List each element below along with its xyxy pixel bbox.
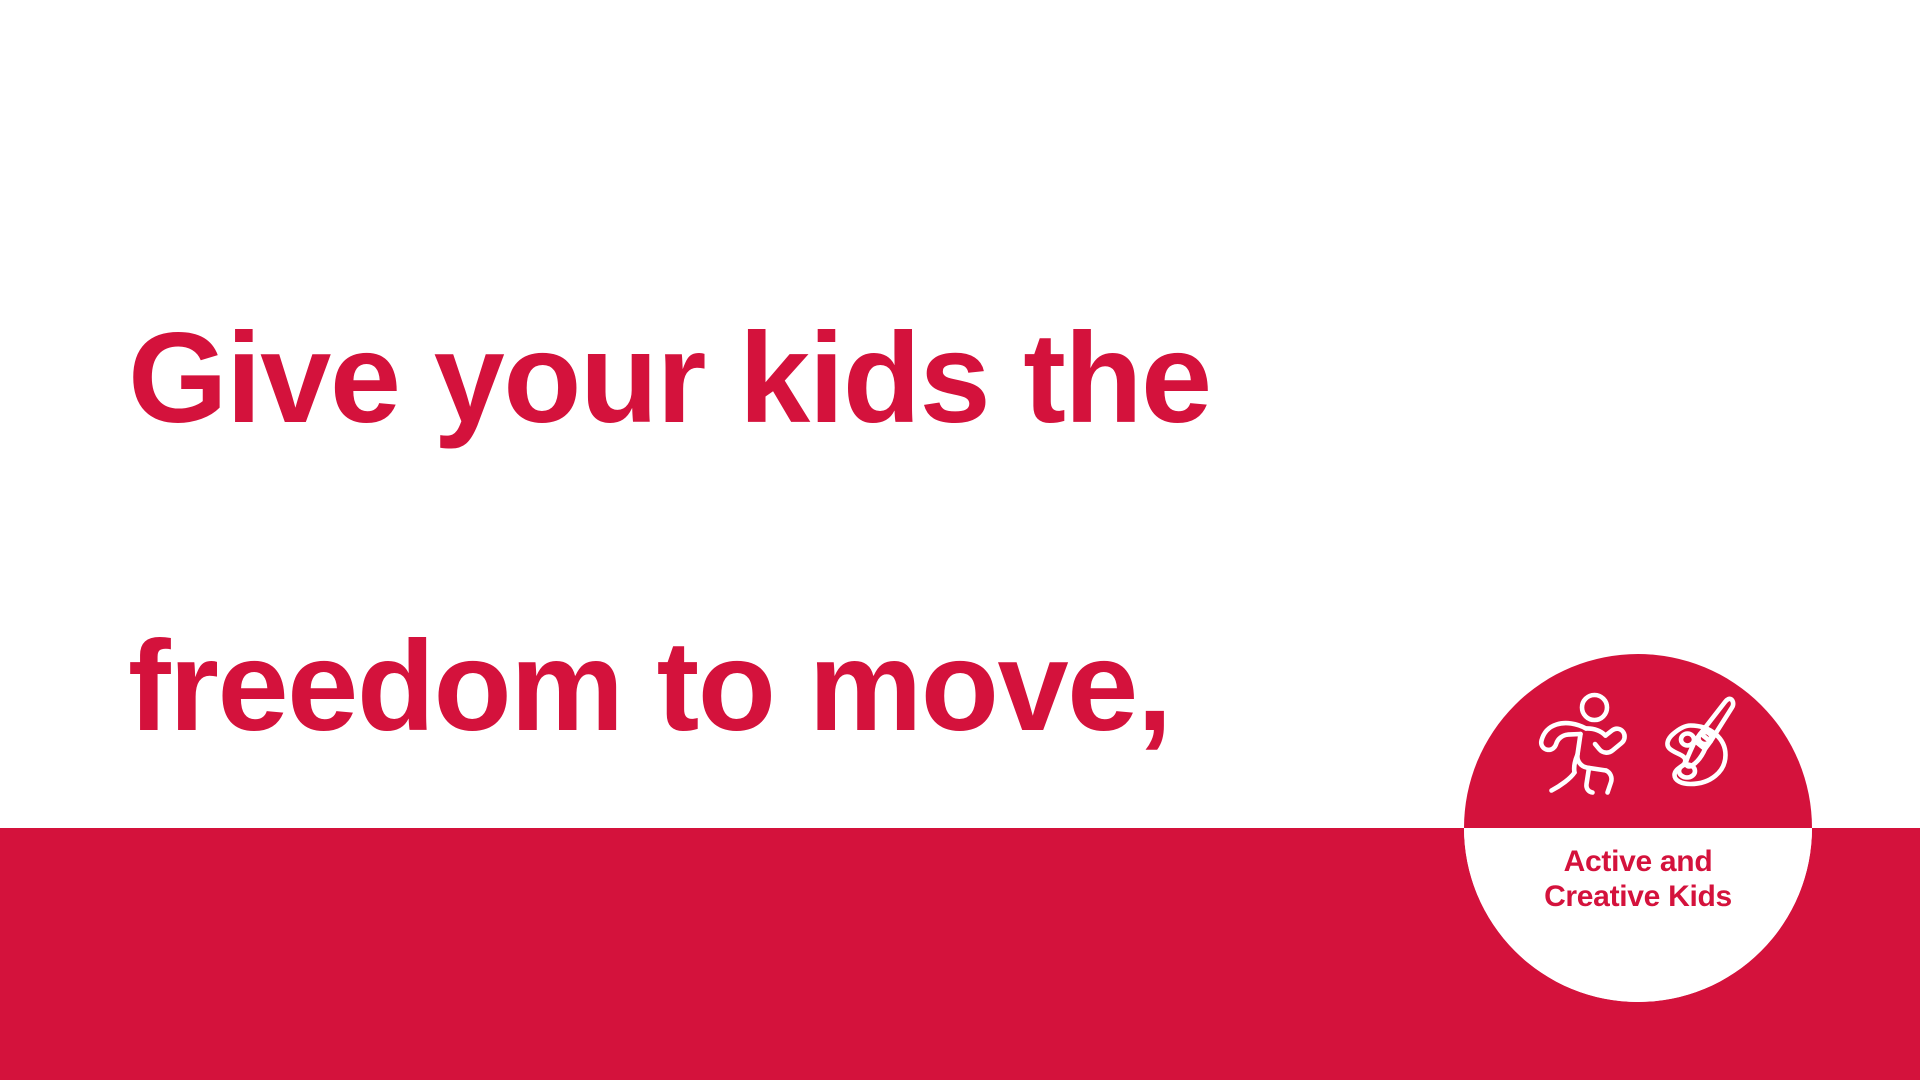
running-person-icon	[1537, 692, 1629, 796]
paint-palette-brush-icon	[1643, 692, 1739, 796]
headline-line-2: freedom to move,	[128, 610, 1428, 764]
headline-line-1: Give your kids the	[128, 302, 1428, 456]
badge-caption: Active and Creative Kids	[1464, 844, 1812, 914]
program-badge: Active and Creative Kids	[1464, 654, 1812, 1002]
badge-caption-line-1: Active and	[1464, 844, 1812, 879]
badge-caption-line-2: Creative Kids	[1464, 879, 1812, 914]
badge-icon-group	[1464, 684, 1812, 804]
promo-banner: Give your kids the freedom to move, play…	[0, 0, 1920, 1080]
